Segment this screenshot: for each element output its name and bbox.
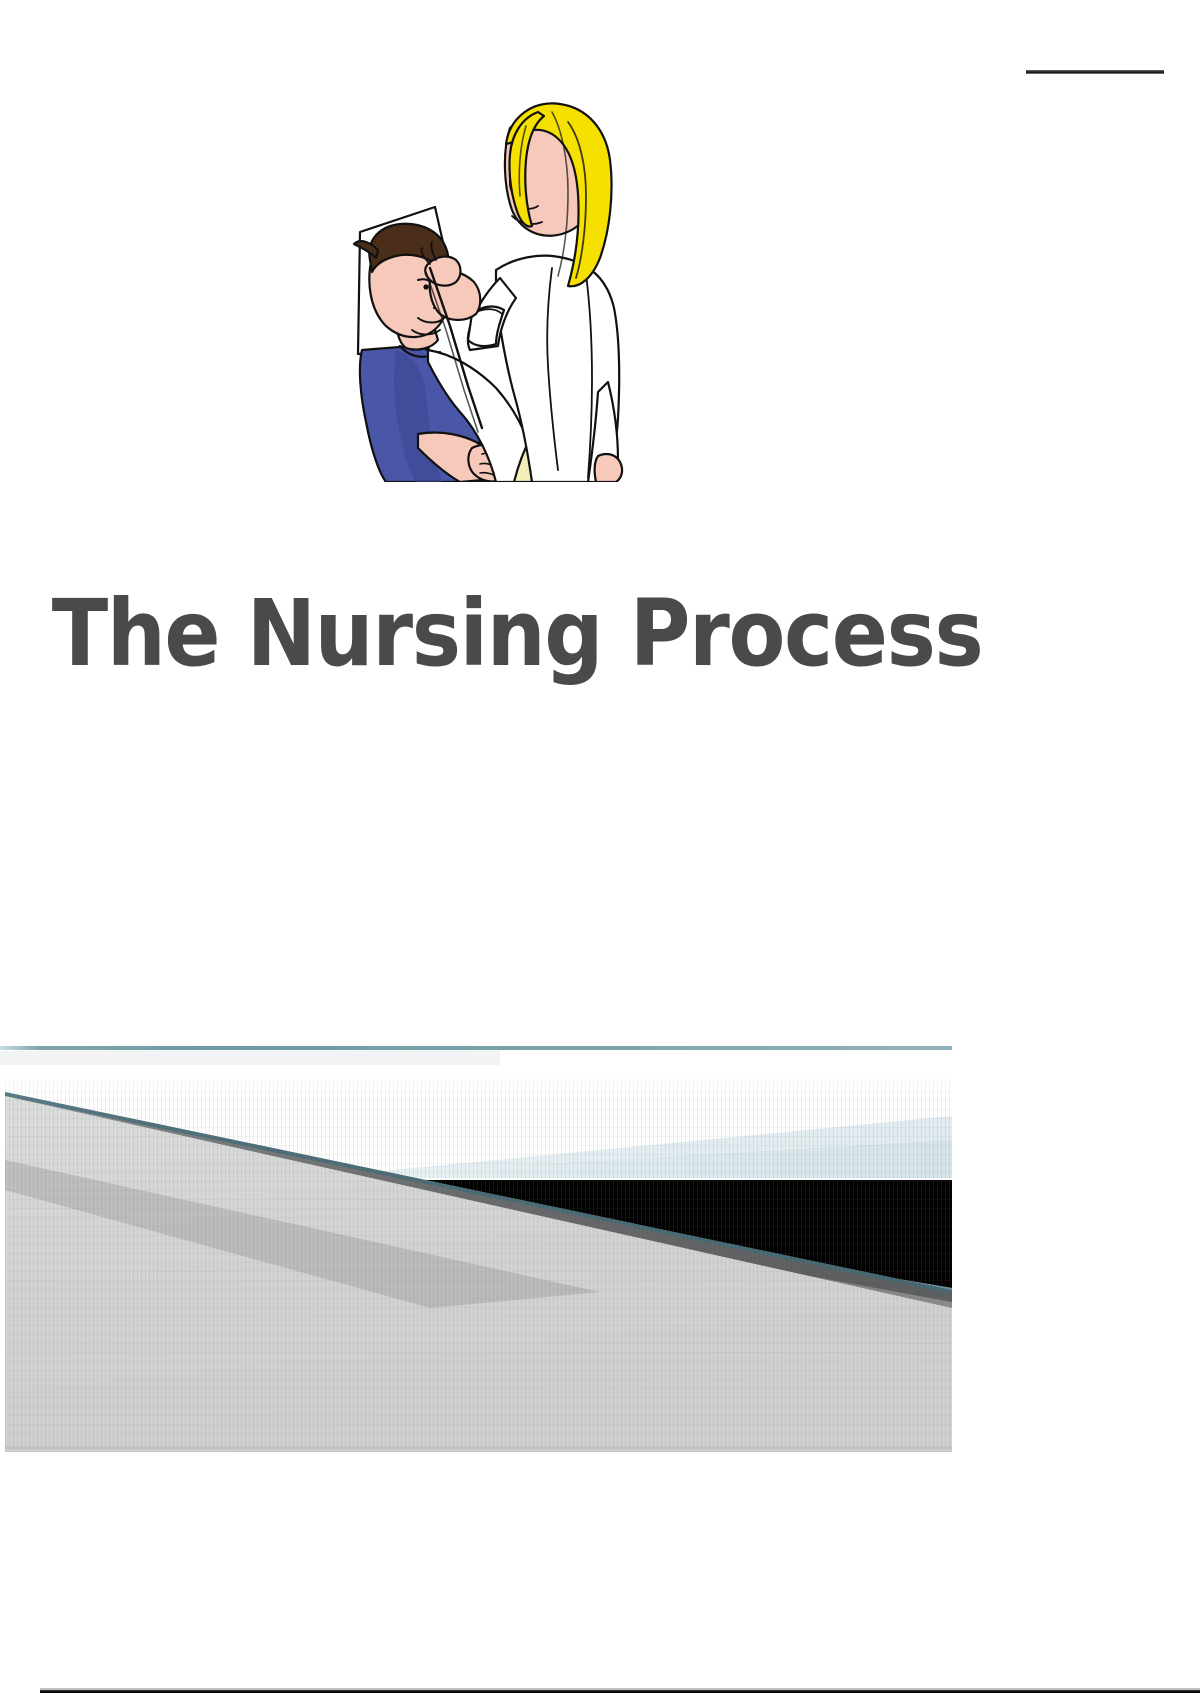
nurse-and-patient-clipart: [300, 82, 650, 482]
bottom-divider: [40, 1688, 1200, 1693]
page-title: The Nursing Process: [52, 588, 983, 680]
top-right-divider: [1026, 70, 1164, 74]
page-title-container: The Nursing Process: [0, 588, 1020, 680]
angled-wedge-graphic: [0, 1040, 952, 1452]
slide-page: The Nursing Process: [0, 0, 1200, 1700]
